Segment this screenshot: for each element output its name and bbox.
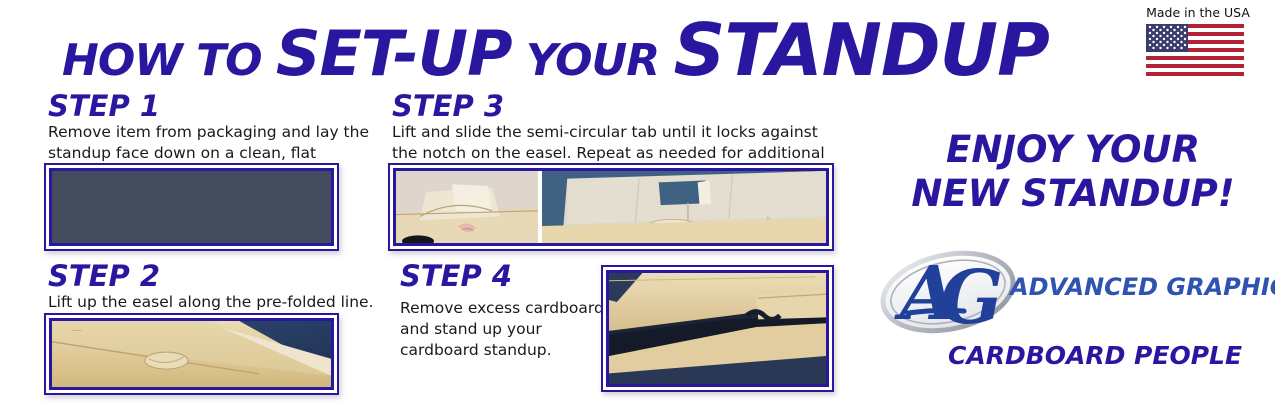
promo-line-1: ENJOY YOUR [883,128,1263,172]
us-flag-icon [1146,24,1244,76]
company-tagline: CARDBOARD PEOPLE [948,341,1242,370]
company-name: ADVANCED GRAPHICS [1010,273,1275,301]
made-in-usa-badge: Made in the USA [1146,6,1250,76]
step-1-heading: STEP 1 [48,92,160,121]
step-4-photo-frame [601,265,834,392]
ag-logo: A G [878,243,1018,341]
step-1-photo [52,171,331,243]
step-2-photo [52,321,331,387]
made-in-usa-label: Made in the USA [1146,6,1250,20]
step-2-heading: STEP 2 [48,262,160,291]
title-part-your: YOUR [512,35,674,86]
step-1-photo-frame [44,163,339,251]
promo-line-2: NEW STANDUP! [883,172,1263,216]
instruction-sheet: HOW TO SET-UP YOUR STANDUP Made in the U… [0,0,1275,417]
step-4-body: Remove excess cardboard and stand up you… [400,298,620,361]
title-part-how-to: HOW TO [62,35,276,86]
svg-text:G: G [940,255,1003,341]
step-3-heading: STEP 3 [392,92,504,121]
step-3-photo-right [542,171,826,243]
title-part-standup: STANDUP [673,8,1048,92]
step-3-photo-left [396,171,538,243]
step-2-photo-frame [44,313,339,395]
step-2-body: Lift up the easel along the pre-folded l… [48,292,378,313]
step-4-heading: STEP 4 [400,262,512,291]
page-title: HOW TO SET-UP YOUR STANDUP [62,14,1049,86]
title-part-setup: SET-UP [276,17,512,90]
step-3-photo-frame [388,163,834,251]
step-4-photo [609,273,826,384]
